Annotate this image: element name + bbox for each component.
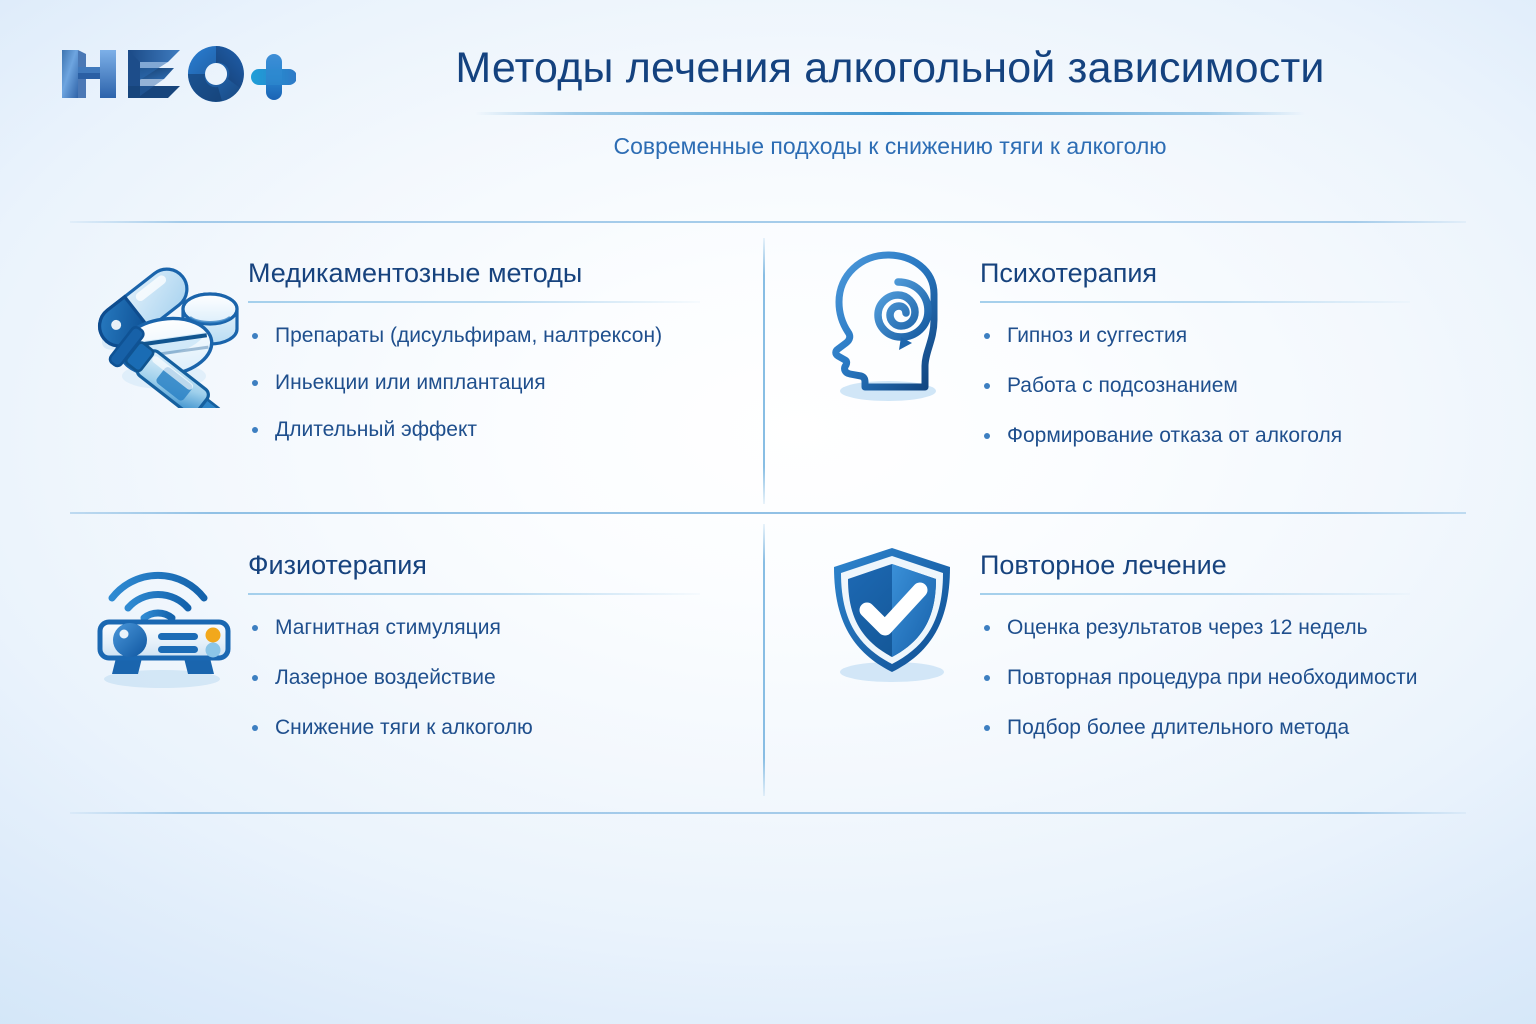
list-item: Снижение тяги к алкоголю <box>248 713 740 742</box>
list-item: Магнитная стимуляция <box>248 613 740 642</box>
neo-plus-logo <box>56 36 296 112</box>
shield-check-icon <box>812 540 980 690</box>
list-item-label: Препараты (дисульфирам, налтрексон) <box>275 324 662 347</box>
bullet-dot-icon <box>984 333 990 339</box>
head-spiral-icon <box>812 248 980 408</box>
card-psychotherapy-body: Психотерапия Гипноз и суггестия Работа с… <box>980 248 1472 471</box>
card-physiotherapy: Физиотерапия Магнитная стимуляция Лазерн… <box>80 540 740 763</box>
list-item-label: Снижение тяги к алкоголю <box>275 716 533 739</box>
divider-middle <box>70 512 1466 514</box>
list-item: Иньекции или имплантация <box>248 368 740 397</box>
divider-vertical-upper <box>763 238 765 504</box>
card-repeat-treatment-bullets: Оценка результатов через 12 недель Повто… <box>980 595 1472 742</box>
divider-top <box>70 221 1466 223</box>
bullet-dot-icon <box>252 380 258 386</box>
divider-vertical-lower <box>763 524 765 796</box>
infographic-canvas: Методы лечения алкогольной зависимости С… <box>0 0 1536 1024</box>
list-item: Длительный эффект <box>248 415 740 444</box>
bullet-dot-icon <box>984 625 990 631</box>
bullet-dot-icon <box>984 725 990 731</box>
bullet-dot-icon <box>984 675 990 681</box>
list-item: Работа с подсознанием <box>980 371 1472 400</box>
list-item: Повторная процедура при необходимости <box>980 663 1472 692</box>
page-title: Методы лечения алкогольной зависимости <box>300 38 1480 98</box>
list-item: Оценка результатов через 12 недель <box>980 613 1472 642</box>
card-repeat-treatment-heading: Повторное лечение <box>980 548 1472 582</box>
page-subtitle: Современные подходы к снижению тяги к ал… <box>300 131 1480 161</box>
header-block: Методы лечения алкогольной зависимости С… <box>300 38 1480 161</box>
list-item: Гипноз и суггестия <box>980 321 1472 350</box>
divider-bottom <box>70 812 1466 814</box>
list-item: Подбор более длительного метода <box>980 713 1472 742</box>
card-medication-bullets: Препараты (дисульфирам, налтрексон) Инье… <box>248 303 740 444</box>
list-item-label: Повторная процедура при необходимости <box>1007 666 1417 689</box>
bullet-dot-icon <box>984 433 990 439</box>
card-medication-body: Медикаментозные методы Препараты (дисуль… <box>248 248 740 444</box>
list-item: Лазерное воздействие <box>248 663 740 692</box>
list-item-label: Формирование отказа от алкоголя <box>1007 424 1342 447</box>
bullet-dot-icon <box>252 725 258 731</box>
card-physiotherapy-heading: Физиотерапия <box>248 548 740 582</box>
list-item-label: Магнитная стимуляция <box>275 616 501 639</box>
card-psychotherapy-heading: Психотерапия <box>980 256 1472 290</box>
bullet-dot-icon <box>252 675 258 681</box>
list-item-label: Работа с подсознанием <box>1007 374 1238 397</box>
list-item: Формирование отказа от алкоголя <box>980 421 1472 450</box>
list-item-label: Подбор более длительного метода <box>1007 716 1349 739</box>
bullet-dot-icon <box>252 625 258 631</box>
card-psychotherapy: Психотерапия Гипноз и суггестия Работа с… <box>812 248 1472 471</box>
card-physiotherapy-body: Физиотерапия Магнитная стимуляция Лазерн… <box>248 540 740 763</box>
list-item: Препараты (дисульфирам, налтрексон) <box>248 321 740 350</box>
title-underline <box>475 112 1305 115</box>
card-psychotherapy-bullets: Гипноз и суггестия Работа с подсознанием… <box>980 303 1472 450</box>
bullet-dot-icon <box>252 333 258 339</box>
pills-syringe-icon <box>80 248 248 408</box>
list-item-label: Гипноз и суггестия <box>1007 324 1187 347</box>
physio-device-icon <box>80 540 248 690</box>
card-repeat-treatment: Повторное лечение Оценка результатов чер… <box>812 540 1472 763</box>
card-medication: Медикаментозные методы Препараты (дисуль… <box>80 248 740 444</box>
list-item-label: Лазерное воздействие <box>275 666 496 689</box>
list-item-label: Иньекции или имплантация <box>275 371 546 394</box>
bullet-dot-icon <box>984 383 990 389</box>
list-item-label: Длительный эффект <box>275 418 477 441</box>
card-repeat-treatment-body: Повторное лечение Оценка результатов чер… <box>980 540 1472 763</box>
card-medication-heading: Медикаментозные методы <box>248 256 740 290</box>
bullet-dot-icon <box>252 427 258 433</box>
list-item-label: Оценка результатов через 12 недель <box>1007 616 1368 639</box>
card-physiotherapy-bullets: Магнитная стимуляция Лазерное воздействи… <box>248 595 740 742</box>
